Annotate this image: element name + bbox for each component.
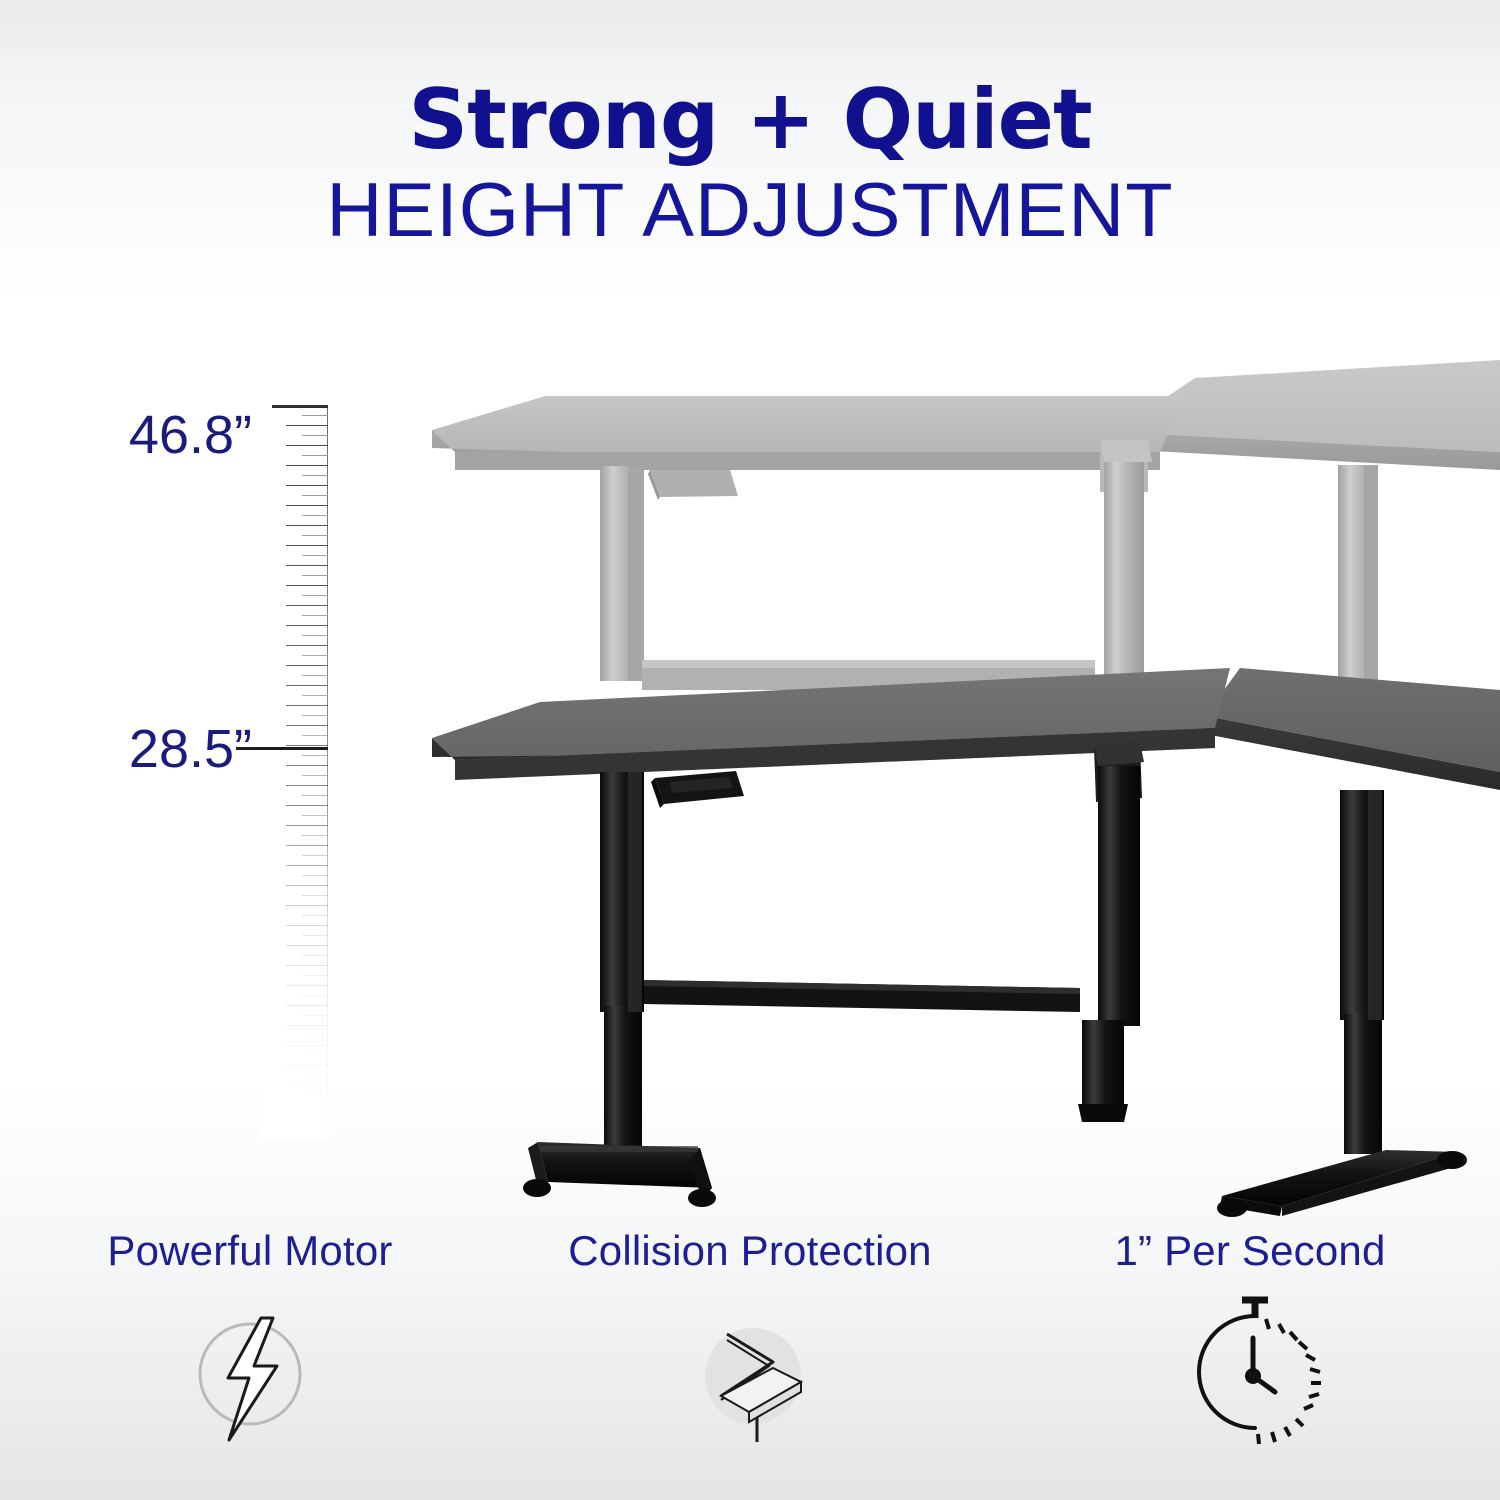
ruler-tick	[286, 1085, 328, 1086]
crossbar	[644, 980, 1080, 1012]
feature-label-collision-protection: Collision Protection	[568, 1228, 932, 1274]
ruler-tick	[286, 645, 328, 646]
ruler-tick	[302, 675, 328, 676]
ruler-tick	[302, 695, 328, 696]
feature-powerful-motor: Powerful Motor	[0, 1228, 500, 1500]
ruler-tick	[286, 505, 328, 506]
ruler-tick	[286, 985, 328, 986]
ruler-tick	[302, 555, 328, 556]
feature-row: Powerful Motor Collision Protection 1” P…	[0, 1228, 1500, 1500]
ruler-tick	[286, 485, 328, 486]
ruler-tick	[286, 565, 328, 566]
ruler-tick	[286, 865, 328, 866]
ruler-tick	[286, 785, 328, 786]
ruler-tick	[286, 425, 328, 426]
ruler-tick	[302, 455, 328, 456]
clock-icon	[1165, 1294, 1335, 1454]
ghost-control-panel	[648, 470, 738, 500]
ruler-tick	[286, 1105, 328, 1106]
corner-column	[1078, 742, 1144, 1122]
ruler-tick	[286, 745, 328, 746]
desk-lowered-solid	[432, 668, 1500, 1217]
lightning-bolt-icon	[165, 1294, 335, 1454]
ruler-tick	[302, 495, 328, 496]
ruler-tick	[302, 835, 328, 836]
ruler-tick	[302, 535, 328, 536]
ruler-tick	[302, 795, 328, 796]
page-subtitle: HEIGHT ADJUSTMENT	[0, 171, 1500, 251]
ruler-tick	[286, 625, 328, 626]
ruler-tick	[286, 805, 328, 806]
column-right	[1340, 790, 1384, 1154]
ruler-tick	[302, 1135, 328, 1136]
ruler-tick	[286, 445, 328, 446]
ghost-desktop-main	[432, 396, 1185, 470]
foot-right	[1217, 1150, 1467, 1217]
ruler-tick	[302, 1055, 328, 1056]
max-height-label: 46.8”	[0, 404, 252, 466]
collision-desk-icon	[665, 1294, 835, 1454]
ruler-tick	[286, 925, 328, 926]
control-panel	[651, 771, 744, 808]
ruler-tick	[286, 525, 328, 526]
ghost-desktop-right	[1115, 360, 1500, 470]
infographic-page: Strong + Quiet HEIGHT ADJUSTMENT 46.8” 2…	[0, 0, 1500, 1500]
page-title: Strong + Quiet	[0, 78, 1500, 161]
ruler-tick	[302, 435, 328, 436]
ghost-column-left	[600, 466, 644, 681]
ruler-tick	[286, 905, 328, 906]
column-left	[600, 772, 644, 1154]
height-ruler	[266, 405, 328, 1140]
ruler-tick	[302, 595, 328, 596]
ruler-tick	[302, 1095, 328, 1096]
ruler-tick	[302, 875, 328, 876]
ruler-tick	[286, 705, 328, 706]
min-height-label: 28.5”	[0, 718, 252, 780]
ghost-column-right	[1338, 465, 1378, 695]
ruler-tick	[302, 775, 328, 776]
ghost-crossbar	[642, 660, 1095, 690]
headline-block: Strong + Quiet HEIGHT ADJUSTMENT	[0, 78, 1500, 251]
ruler-tick	[302, 955, 328, 956]
ruler-tick	[302, 655, 328, 656]
ruler-tick-marks	[266, 405, 328, 1140]
ruler-tick	[302, 615, 328, 616]
ruler-tick	[302, 895, 328, 896]
ruler-max-marker	[272, 405, 328, 408]
desk-raised-ghost	[432, 360, 1500, 695]
ruler-tick	[286, 585, 328, 586]
ruler-tick	[302, 515, 328, 516]
ruler-tick	[286, 665, 328, 666]
feature-label-speed: 1” Per Second	[1114, 1228, 1385, 1274]
ruler-tick	[286, 1065, 328, 1066]
ruler-tick	[286, 945, 328, 946]
ruler-tick	[302, 1115, 328, 1116]
feature-speed: 1” Per Second	[1000, 1228, 1500, 1500]
feature-label-powerful-motor: Powerful Motor	[107, 1228, 392, 1274]
ruler-min-marker	[236, 747, 328, 750]
ghost-corner-column	[1100, 440, 1152, 692]
desktop-main	[432, 668, 1230, 780]
ruler-tick	[302, 1015, 328, 1016]
ruler-tick	[286, 685, 328, 686]
ruler-tick	[302, 715, 328, 716]
ruler-tick	[286, 1025, 328, 1026]
foot-left	[523, 1142, 716, 1207]
ruler-tick	[302, 1075, 328, 1076]
ruler-tick	[302, 1035, 328, 1036]
ruler-tick	[286, 965, 328, 966]
ruler-tick	[302, 935, 328, 936]
ruler-tick	[286, 465, 328, 466]
ruler-tick	[286, 885, 328, 886]
ruler-tick	[302, 815, 328, 816]
ruler-tick	[286, 605, 328, 606]
ruler-tick	[302, 975, 328, 976]
ruler-tick	[286, 1125, 328, 1126]
ruler-tick	[302, 735, 328, 736]
ruler-tick	[302, 575, 328, 576]
ruler-tick	[302, 475, 328, 476]
ruler-tick	[286, 845, 328, 846]
ruler-tick	[302, 415, 328, 416]
ruler-tick	[286, 1005, 328, 1006]
ruler-tick	[286, 825, 328, 826]
ruler-tick	[286, 725, 328, 726]
feature-collision-protection: Collision Protection	[500, 1228, 1000, 1500]
ruler-tick	[302, 915, 328, 916]
ruler-tick	[286, 1045, 328, 1046]
ruler-tick	[286, 545, 328, 546]
ruler-tick	[286, 765, 328, 766]
ruler-tick	[302, 755, 328, 756]
ruler-tick	[302, 635, 328, 636]
desktop-right	[1205, 668, 1500, 790]
ruler-tick	[302, 995, 328, 996]
ruler-tick	[302, 855, 328, 856]
